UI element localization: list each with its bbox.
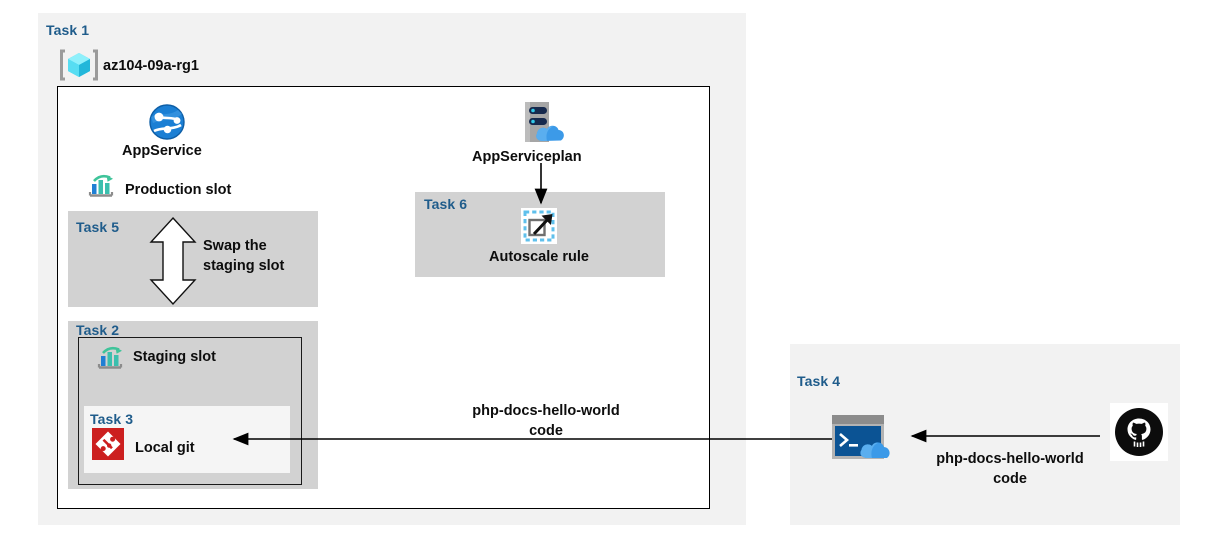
cloud-shell-icon [832, 415, 900, 459]
task2-label: Task 2 [76, 322, 119, 338]
connector-github-to-shell-label: php-docs-hello-world code [926, 449, 1094, 489]
production-slot-label: Production slot [125, 181, 231, 199]
diagram-canvas: Task 1 az104-09a-rg1 AppService [0, 0, 1218, 545]
app-service-label: AppService [122, 142, 202, 160]
resource-group-label: az104-09a-rg1 [103, 57, 199, 75]
app-service-icon [148, 104, 186, 140]
task6-label: Task 6 [424, 196, 467, 212]
task3-label: Task 3 [90, 411, 133, 427]
deployment-slot-icon [97, 346, 127, 372]
resource-group-icon [60, 48, 98, 82]
connector-shell-to-localgit-label: php-docs-hello-world code [462, 401, 630, 441]
staging-slot-label: Staging slot [133, 348, 216, 366]
task4-label: Task 4 [797, 373, 840, 389]
autoscale-rule-label: Autoscale rule [489, 248, 589, 266]
autoscale-icon [521, 208, 557, 244]
local-git-label: Local git [135, 439, 195, 457]
app-service-plan-label: AppServiceplan [472, 148, 582, 166]
task1-label: Task 1 [46, 22, 89, 38]
git-icon [92, 428, 124, 460]
github-icon [1110, 403, 1168, 461]
deployment-slot-icon [88, 174, 118, 200]
app-service-plan-icon [513, 101, 569, 145]
task5-label: Task 5 [76, 219, 119, 235]
swap-arrow-icon [145, 216, 201, 306]
swap-label: Swap the staging slot [203, 236, 313, 276]
